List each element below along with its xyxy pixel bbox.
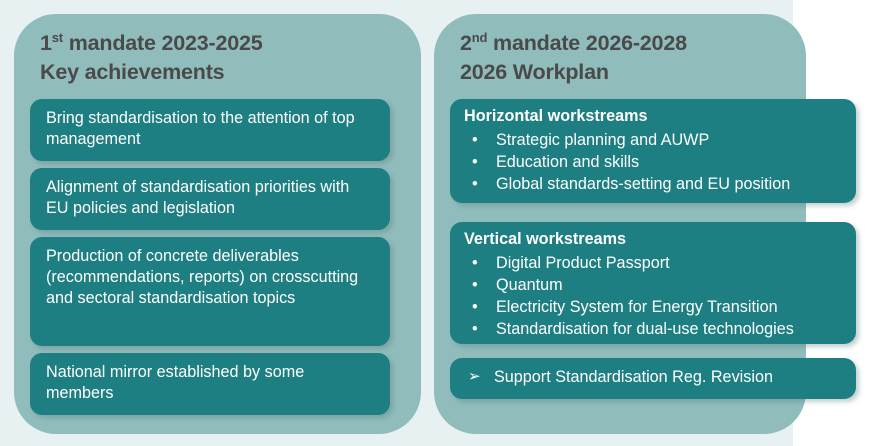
list-item-label: Strategic planning and AUWP — [496, 131, 709, 149]
list-item-label: Electricity System for Energy Transition — [496, 298, 778, 316]
achievement-card-1-text: Bring standardisation to the attention o… — [46, 108, 376, 150]
list-item[interactable]: • Electricity System for Energy Transiti… — [464, 296, 844, 318]
horizontal-workstreams-card[interactable]: Horizontal workstreams • Strategic plann… — [450, 99, 856, 203]
bullet-icon: • — [472, 151, 478, 173]
list-item[interactable]: • Digital Product Passport — [464, 252, 844, 274]
bullet-icon: • — [472, 252, 478, 274]
achievement-card-4[interactable]: National mirror established by some memb… — [30, 353, 390, 415]
mandate-2-title-ordinal: nd — [472, 30, 487, 45]
support-regulation-card[interactable]: ➢ Support Standardisation Reg. Revision — [450, 358, 856, 399]
list-item-label: Quantum — [496, 276, 563, 294]
achievement-card-2[interactable]: Alignment of standardisation priorities … — [30, 168, 390, 230]
bullet-icon: • — [472, 129, 478, 151]
mandate-2-subtitle: 2026 Workplan — [460, 58, 687, 87]
mandate-2-title: 2nd mandate 2026-2028 2026 Workplan — [460, 29, 687, 86]
slide-canvas: 1st mandate 2023-2025 Key achievements B… — [0, 0, 873, 446]
list-item-label: Education and skills — [496, 153, 639, 171]
bullet-icon: • — [472, 296, 478, 318]
bullet-icon: • — [472, 318, 478, 340]
bullet-icon: • — [472, 274, 478, 296]
support-regulation-label: Support Standardisation Reg. Revision — [494, 368, 773, 386]
achievement-card-1[interactable]: Bring standardisation to the attention o… — [30, 99, 390, 161]
list-item[interactable]: • Strategic planning and AUWP — [464, 129, 844, 151]
list-item[interactable]: • Standardisation for dual-use technolog… — [464, 318, 844, 340]
support-regulation-row[interactable]: ➢ Support Standardisation Reg. Revision — [464, 366, 844, 388]
list-item[interactable]: • Education and skills — [464, 151, 844, 173]
list-item[interactable]: • Quantum — [464, 274, 844, 296]
vertical-workstreams-list: • Digital Product Passport • Quantum • E… — [464, 252, 844, 341]
mandate-1-title-ordinal: st — [52, 30, 63, 45]
mandate-2-title-rest: mandate 2026-2028 — [487, 31, 687, 55]
bullet-icon: • — [472, 173, 478, 195]
horizontal-workstreams-list: • Strategic planning and AUWP • Educatio… — [464, 129, 844, 196]
achievement-card-3[interactable]: Production of concrete deliverables (rec… — [30, 237, 390, 346]
list-item-label: Global standards-setting and EU position — [496, 175, 790, 193]
vertical-workstreams-card[interactable]: Vertical workstreams • Digital Product P… — [450, 222, 856, 344]
achievement-card-2-text: Alignment of standardisation priorities … — [46, 177, 376, 219]
horizontal-workstreams-heading: Horizontal workstreams — [464, 106, 844, 127]
list-item-label: Digital Product Passport — [496, 254, 670, 272]
mandate-1-subtitle: Key achievements — [40, 58, 263, 87]
list-item-label: Standardisation for dual-use technologie… — [496, 320, 794, 338]
vertical-workstreams-heading: Vertical workstreams — [464, 229, 844, 250]
mandate-2-title-number: 2 — [460, 31, 472, 55]
list-item[interactable]: • Global standards-setting and EU positi… — [464, 173, 844, 195]
arrow-bullet-icon: ➢ — [468, 366, 481, 388]
achievement-card-3-text: Production of concrete deliverables (rec… — [46, 246, 376, 310]
mandate-1-title-number: 1 — [40, 31, 52, 55]
achievement-card-4-text: National mirror established by some memb… — [46, 362, 376, 404]
mandate-1-title: 1st mandate 2023-2025 Key achievements — [40, 29, 263, 86]
mandate-1-title-rest: mandate 2023-2025 — [63, 31, 263, 55]
